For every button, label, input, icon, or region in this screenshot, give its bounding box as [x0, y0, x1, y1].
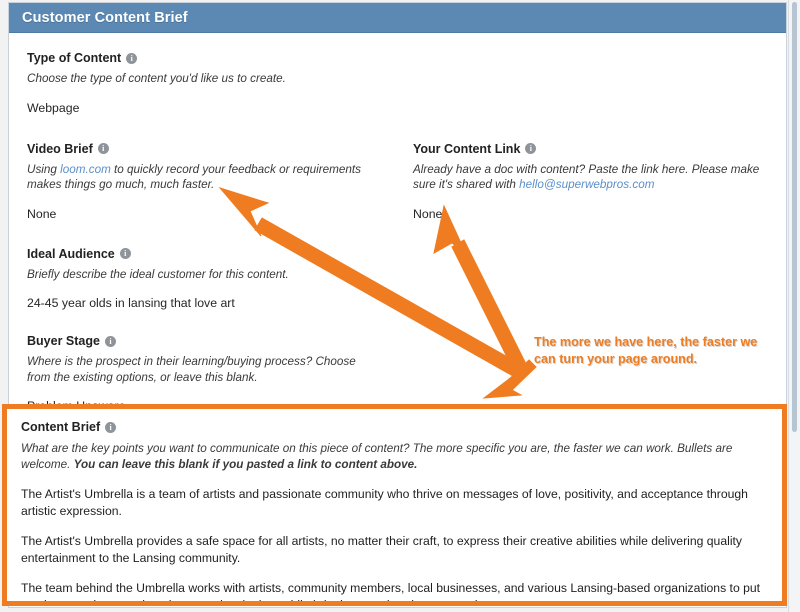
field-label-text: Content Brief	[21, 419, 100, 435]
help-text-before: Using	[27, 163, 60, 176]
info-icon[interactable]: i	[120, 248, 131, 259]
content-brief-paragraph: The Artist's Umbrella is a team of artis…	[21, 486, 768, 519]
field-label-text: Ideal Audience	[27, 246, 115, 262]
field-label-type-of-content: Type of Content i	[27, 50, 399, 66]
field-type-of-content: Type of Content i Choose the type of con…	[9, 33, 399, 116]
loom-link[interactable]: loom.com	[60, 163, 111, 176]
field-video-brief: Video Brief i Using loom.com to quickly …	[9, 116, 399, 222]
field-content-brief: Content Brief i What are the key points …	[7, 409, 782, 606]
panel-body: Type of Content i Choose the type of con…	[9, 33, 786, 414]
field-value-ideal-audience: 24-45 year olds in lansing that love art	[27, 295, 399, 311]
page-title: Customer Content Brief	[22, 10, 188, 26]
field-label-ideal-audience: Ideal Audience i	[27, 246, 399, 262]
row-buyer-stage: Buyer Stage i Where is the prospect in t…	[9, 311, 786, 414]
field-help-ideal-audience: Briefly describe the ideal customer for …	[27, 267, 387, 283]
info-icon[interactable]: i	[525, 143, 536, 154]
row-video-brief-and-content-link: Video Brief i Using loom.com to quickly …	[9, 116, 786, 222]
info-icon[interactable]: i	[98, 143, 109, 154]
field-label-buyer-stage: Buyer Stage i	[27, 333, 399, 349]
screen-background: Customer Content Brief Type of Content i…	[0, 0, 800, 612]
info-icon[interactable]: i	[105, 422, 116, 433]
field-label-text: Buyer Stage	[27, 333, 100, 349]
info-icon[interactable]: i	[105, 336, 116, 347]
field-buyer-stage: Buyer Stage i Where is the prospect in t…	[9, 311, 399, 414]
field-label-text: Video Brief	[27, 141, 93, 157]
field-your-content-link: Your Content Link i Already have a doc w…	[399, 116, 779, 222]
info-icon[interactable]: i	[126, 53, 137, 64]
content-brief-paragraph: The team behind the Umbrella works with …	[21, 580, 768, 606]
field-label-content-brief: Content Brief i	[21, 419, 768, 435]
content-brief-highlight-box: Content Brief i What are the key points …	[2, 404, 787, 606]
scrollbar-thumb[interactable]	[792, 2, 797, 432]
field-label-text: Your Content Link	[413, 141, 520, 157]
field-label-text: Type of Content	[27, 50, 121, 66]
content-brief-paragraph: The Artist's Umbrella provides a safe sp…	[21, 533, 768, 566]
field-label-video-brief: Video Brief i	[27, 141, 399, 157]
field-help-your-content-link: Already have a doc with content? Paste t…	[413, 162, 768, 193]
vertical-scrollbar[interactable]	[788, 0, 800, 612]
help-text-bold: You can leave this blank if you pasted a…	[74, 458, 418, 471]
field-help-video-brief: Using loom.com to quickly record your fe…	[27, 162, 387, 193]
field-label-your-content-link: Your Content Link i	[413, 141, 779, 157]
field-help-content-brief: What are the key points you want to comm…	[21, 441, 766, 472]
field-help-type-of-content: Choose the type of content you'd like us…	[27, 71, 387, 87]
field-value-your-content-link: None	[413, 206, 779, 222]
field-help-buyer-stage: Where is the prospect in their learning/…	[27, 354, 377, 385]
row-type-of-content: Type of Content i Choose the type of con…	[9, 33, 786, 116]
field-value-video-brief: None	[27, 206, 399, 222]
panel-header: Customer Content Brief	[9, 3, 786, 33]
field-value-type-of-content: Webpage	[27, 100, 399, 116]
field-ideal-audience: Ideal Audience i Briefly describe the id…	[9, 222, 399, 312]
support-email-link[interactable]: hello@superwebpros.com	[519, 178, 654, 191]
row-ideal-audience: Ideal Audience i Briefly describe the id…	[9, 222, 786, 312]
